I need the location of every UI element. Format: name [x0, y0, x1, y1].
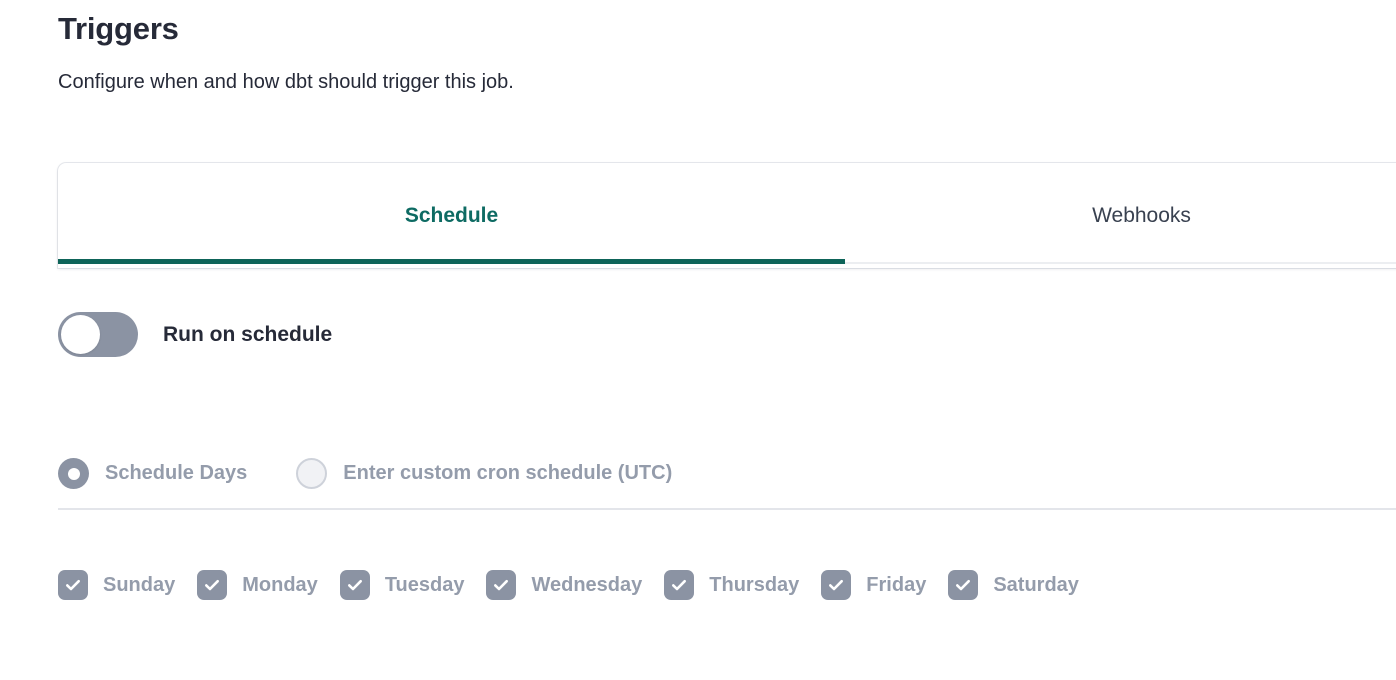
triggers-page: Triggers Configure when and how dbt shou…	[0, 0, 1396, 680]
check-icon	[948, 570, 978, 600]
day-checkbox-saturday[interactable]: Saturday	[948, 570, 1079, 600]
check-icon	[58, 570, 88, 600]
radio-option-schedule-days[interactable]: Schedule Days	[58, 458, 247, 489]
day-checkbox-friday[interactable]: Friday	[821, 570, 926, 600]
radio-selected-icon	[58, 458, 89, 489]
tab-inactive-underline	[845, 262, 1396, 264]
page-subtitle: Configure when and how dbt should trigge…	[58, 49, 1258, 96]
check-icon	[821, 570, 851, 600]
radio-unselected-icon	[296, 458, 327, 489]
tab-webhooks-label: Webhooks	[1092, 204, 1191, 228]
day-checkbox-wednesday[interactable]: Wednesday	[486, 570, 642, 600]
day-label-saturday: Saturday	[993, 574, 1079, 597]
day-checkbox-tuesday[interactable]: Tuesday	[340, 570, 465, 600]
day-checkbox-sunday[interactable]: Sunday	[58, 570, 175, 600]
toggle-knob-icon	[61, 315, 100, 354]
schedule-mode-radiogroup: Schedule Days Enter custom cron schedule…	[58, 458, 672, 489]
day-label-thursday: Thursday	[709, 574, 799, 597]
schedule-days-row: Sunday Monday Tuesday	[58, 570, 1079, 600]
tab-active-underline	[58, 259, 845, 264]
check-icon	[340, 570, 370, 600]
day-checkbox-thursday[interactable]: Thursday	[664, 570, 799, 600]
day-label-sunday: Sunday	[103, 574, 175, 597]
page-header: Triggers Configure when and how dbt shou…	[58, 10, 1258, 96]
tab-webhooks[interactable]: Webhooks	[845, 163, 1396, 268]
day-label-wednesday: Wednesday	[531, 574, 642, 597]
triggers-tablist: Schedule Webhooks	[58, 163, 1396, 268]
check-icon	[197, 570, 227, 600]
radio-label-schedule-days: Schedule Days	[105, 462, 247, 485]
run-on-schedule-row: Run on schedule	[58, 312, 332, 357]
section-divider	[58, 508, 1396, 510]
page-title: Triggers	[58, 10, 1258, 49]
day-label-friday: Friday	[866, 574, 926, 597]
check-icon	[486, 570, 516, 600]
radio-option-custom-cron[interactable]: Enter custom cron schedule (UTC)	[296, 458, 672, 489]
check-icon	[664, 570, 694, 600]
day-label-tuesday: Tuesday	[385, 574, 465, 597]
tab-schedule[interactable]: Schedule	[58, 163, 845, 268]
day-label-monday: Monday	[242, 574, 318, 597]
radio-label-custom-cron: Enter custom cron schedule (UTC)	[343, 462, 672, 485]
day-checkbox-monday[interactable]: Monday	[197, 570, 318, 600]
run-on-schedule-toggle[interactable]	[58, 312, 138, 357]
tab-schedule-label: Schedule	[405, 204, 498, 228]
run-on-schedule-label: Run on schedule	[163, 323, 332, 347]
